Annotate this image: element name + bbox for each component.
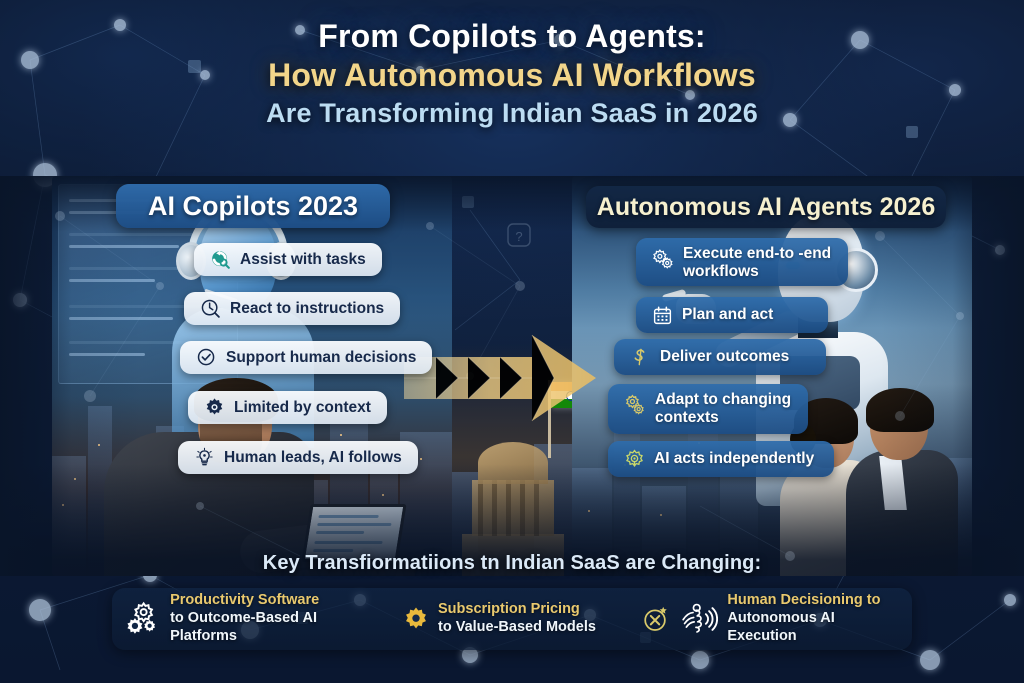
bottom-kicker-text: Key Transfiormatiions tn Indian SaaS are…	[0, 552, 1024, 575]
transition-arrow-icon	[404, 333, 596, 423]
agent-item-execute-end-to-end-workflows[interactable]: Execute end-to -end workflows	[636, 238, 848, 286]
gear-target-icon	[624, 449, 645, 470]
copilot-scene-photo	[52, 176, 452, 576]
gear-cog-icon	[624, 394, 646, 416]
transformation-to: to Value-Based Models	[438, 619, 596, 637]
transformation-from: Human Decisioning to	[727, 592, 899, 610]
copilot-item-label: Assist with tasks	[240, 251, 366, 269]
gear-icon	[403, 606, 429, 632]
bulb-network-icon	[194, 447, 215, 468]
transformation-item-productivity-software[interactable]: Productivity Software to Outcome-Based A…	[112, 592, 390, 645]
title-line-3: Are Transforming Indian SaaS in 2026	[0, 95, 1024, 131]
copilot-item-assist-with-tasks[interactable]: Assist with tasks	[194, 243, 382, 276]
copilot-item-human-leads-ai-follows[interactable]: Human leads, AI follows	[178, 441, 418, 474]
agent-item-label: Deliver outcomes	[660, 348, 789, 366]
infographic-canvas: ? From Copilots to Agents: How Autonomou…	[0, 0, 1024, 683]
transformation-item-subscription-pricing[interactable]: Subscription Pricing to Value-Based Mode…	[390, 601, 628, 636]
gears-icon	[652, 248, 674, 270]
agent-item-label: Plan and act	[682, 306, 773, 324]
copilot-item-label: React to instructions	[230, 300, 384, 318]
calendar-icon	[652, 305, 673, 326]
agent-item-deliver-outcomes[interactable]: Deliver outcomes	[614, 339, 826, 375]
clock-icon	[200, 298, 221, 319]
gears-icon	[125, 601, 161, 637]
infographic-title: From Copilots to Agents: How Autonomous …	[0, 18, 1024, 131]
left-panel-header: AI Copilots 2023	[116, 184, 390, 228]
copilot-item-label: Support human decisions	[226, 349, 416, 367]
copilot-item-label: Limited by context	[234, 399, 371, 417]
handoff-signal-icon	[680, 601, 718, 637]
copilot-item-label: Human leads, AI follows	[224, 449, 402, 467]
refresh-circle-icon	[210, 249, 231, 270]
key-transformations-bar: Productivity Software to Outcome-Based A…	[112, 588, 912, 650]
copilot-item-react-to-instructions[interactable]: React to instructions	[184, 292, 400, 325]
transformation-item-human-decisioning[interactable]: Human Decisioning to Autonomous AI Execu…	[628, 592, 912, 645]
transformation-to: to Outcome-Based AI Platforms	[170, 610, 377, 645]
copilot-item-limited-by-context[interactable]: Limited by context	[188, 391, 387, 424]
agent-item-ai-acts-independently[interactable]: AI acts independently	[608, 441, 834, 477]
right-panel-header: Autonomous AI Agents 2026	[586, 186, 946, 228]
currency-icon	[630, 346, 651, 368]
agent-item-plan-and-act[interactable]: Plan and act	[636, 297, 828, 333]
transformation-from: Productivity Software	[170, 592, 377, 610]
target-x-icon	[641, 603, 671, 635]
transformation-from: Subscription Pricing	[438, 601, 596, 619]
copilot-item-support-human-decisions[interactable]: Support human decisions	[180, 341, 432, 374]
agent-item-adapt-to-changing-contexts[interactable]: Adapt to changing contexts	[608, 384, 808, 434]
title-line-1: From Copilots to Agents:	[0, 18, 1024, 56]
agent-scene-photo	[572, 176, 972, 576]
title-line-2: How Autonomous AI Workflows	[0, 56, 1024, 95]
transformation-to: Autonomous AI Execution	[727, 610, 899, 645]
agent-item-label: AI acts independently	[654, 450, 814, 468]
check-circle-icon	[196, 347, 217, 368]
agent-item-label: Execute end-to -end workflows	[683, 245, 832, 282]
agent-item-label: Adapt to changing contexts	[655, 391, 792, 428]
gear-icon	[204, 397, 225, 418]
